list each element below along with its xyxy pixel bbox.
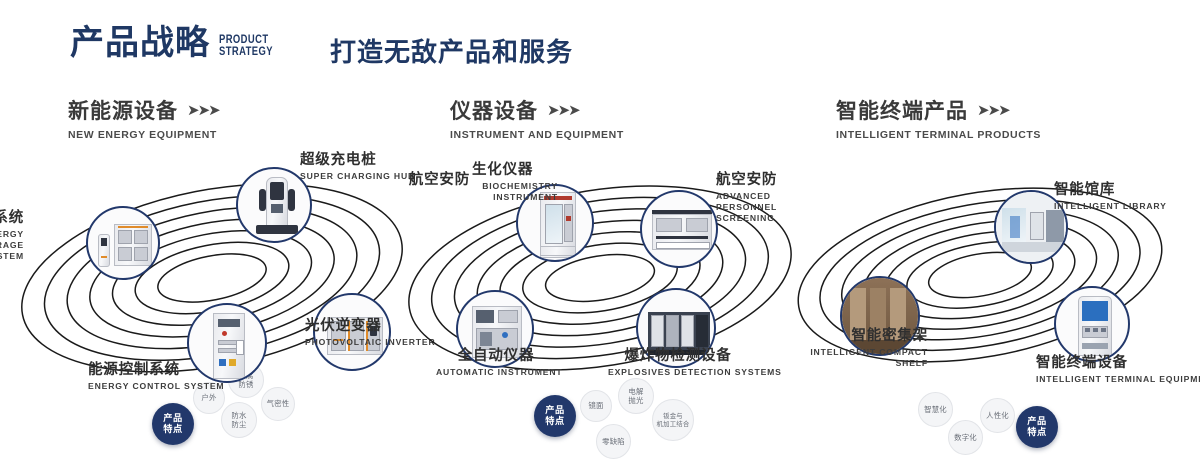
section-title-en: INTELLIGENT TERMINAL PRODUCTS [836, 129, 1041, 141]
label-aviation-security-left: 航空安防 [390, 172, 470, 189]
keyword-line1: 气密性 [267, 399, 290, 408]
label-intelligent-compact-shelf: 智能密集架 INTELLIGENT COMPACT SHELF [800, 328, 928, 369]
label-energy-storage-system: 储能系统 ENERGY STORAGE SYSTEM [0, 210, 24, 262]
label-en: EXPLOSIVES DETECTION SYSTEMS [608, 367, 748, 378]
label-cn: 生化仪器 [472, 162, 558, 179]
section-title-en: NEW ENERGY EQUIPMENT [68, 129, 219, 141]
cluster-instrument: 产品 特点 镜面 电解 抛光 钣金与 机加工结合 零缺陷 [400, 150, 820, 400]
core-bubble-line1: 产品 [545, 405, 565, 417]
node-advanced-personnel-screening[interactable] [640, 190, 718, 268]
core-bubble-line1: 产品 [163, 413, 183, 425]
page-title-cn: 产品战略 [70, 26, 210, 60]
page-title-en-line2: STRATEGY [219, 46, 273, 58]
keyword-line2: 防尘 [231, 420, 246, 429]
label-cn: 能源控制系统 [88, 362, 224, 379]
keyword-line1: 人性化 [986, 411, 1009, 420]
core-bubble-line1: 产品 [1027, 416, 1047, 428]
node-energy-storage-system[interactable] [86, 206, 160, 280]
terminal-kiosk-icon [1056, 288, 1128, 360]
label-cn: 航空安防 [390, 172, 470, 189]
cluster-new-energy: 产品 特点 户外 防腐 防锈 防水 防尘 气密性 [0, 150, 420, 400]
label-cn: 超级充电桩 [300, 152, 415, 169]
keyword-line1: 户外 [201, 393, 216, 402]
label-cn: 智能馆库 [1054, 182, 1167, 199]
keyword-line1: 数字化 [954, 433, 977, 442]
node-intelligent-terminal-equipment[interactable] [1054, 286, 1130, 362]
keyword-line2: 防锈 [238, 380, 253, 389]
label-biochemistry-instrument: 生化仪器 BIOCHEMISTRY INSTRUMENT [472, 162, 558, 203]
section-title-new-energy: 新能源设备 ➤➤➤ NEW ENERGY EQUIPMENT [68, 95, 219, 141]
label-en: BIOCHEMISTRY INSTRUMENT [472, 181, 558, 203]
keyword-line1: 零缺陷 [602, 437, 625, 446]
label-en: ENERGY STORAGE SYSTEM [0, 229, 24, 263]
label-explosives-detection-systems: 爆炸物检测设备 EXPLOSIVES DETECTION SYSTEMS [608, 348, 748, 378]
keyword-line1: 电解 [628, 387, 643, 396]
label-en: ENERGY CONTROL SYSTEM [88, 381, 224, 392]
section-title-instrument: 仪器设备 ➤➤➤ INSTRUMENT AND EQUIPMENT [450, 95, 624, 141]
keyword-bubble-humanized[interactable]: 人性化 [980, 398, 1015, 433]
keyword-bubble-waterproof[interactable]: 防水 防尘 [221, 402, 257, 438]
keyword-bubble-digital[interactable]: 数字化 [948, 420, 983, 455]
label-en: INTELLIGENT LIBRARY [1054, 201, 1167, 212]
core-bubble-line2: 特点 [163, 424, 183, 436]
core-bubble-product-features[interactable]: 产品 特点 [534, 395, 576, 437]
battery-cabinet-icon [88, 208, 158, 278]
label-en: AUTOMATIC INSTRUMENT [436, 367, 556, 378]
page-title-en: PRODUCT STRATEGY [219, 34, 273, 58]
page-title-en-line1: PRODUCT [219, 34, 273, 46]
chevrons-right-icon: ➤➤➤ [977, 101, 1009, 119]
keyword-line1: 钣金与 [663, 412, 683, 420]
label-intelligent-library: 智能馆库 INTELLIGENT LIBRARY [1054, 182, 1167, 212]
keyword-line1: 防水 [231, 411, 246, 420]
section-title-cn: 仪器设备 [450, 95, 538, 125]
section-title-cn: 新能源设备 [68, 95, 178, 125]
label-en: INTELLIGENT COMPACT SHELF [800, 347, 928, 369]
section-title-intelligent-terminal: 智能终端产品 ➤➤➤ INTELLIGENT TERMINAL PRODUCTS [836, 95, 1041, 141]
keyword-line2: 机加工结合 [657, 420, 690, 428]
label-cn: 储能系统 [0, 210, 24, 227]
label-cn: 智能终端设备 [1036, 355, 1200, 372]
label-cn: 全自动仪器 [436, 348, 556, 365]
label-energy-control-system: 能源控制系统 ENERGY CONTROL SYSTEM [88, 362, 224, 392]
page-subtitle: 打造无敌产品和服务 [330, 32, 573, 69]
core-bubble-line2: 特点 [1027, 427, 1047, 439]
section-title-en: INSTRUMENT AND EQUIPMENT [450, 129, 624, 141]
chevrons-right-icon: ➤➤➤ [187, 101, 219, 119]
page-title: 产品战略 PRODUCT STRATEGY [70, 26, 285, 60]
keyword-line2: 抛光 [628, 396, 643, 405]
keyword-bubble-airtightness[interactable]: 气密性 [261, 387, 295, 421]
core-bubble-product-features[interactable]: 产品 特点 [1016, 406, 1058, 448]
keyword-bubble-zero-defect[interactable]: 零缺陷 [596, 424, 631, 459]
personnel-screening-icon [642, 192, 716, 266]
section-title-cn: 智能终端产品 [836, 95, 968, 125]
keyword-line1: 智慧化 [924, 405, 947, 414]
keyword-line1: 镜面 [588, 401, 603, 410]
cluster-intelligent-terminal: 产品 特点 智慧化 数字化 人性化 [790, 150, 1200, 400]
keyword-bubble-mirror-finish[interactable]: 镜面 [580, 390, 612, 422]
keyword-bubble-sheetmetal-machining[interactable]: 钣金与 机加工结合 [652, 399, 694, 441]
label-automatic-instrument: 全自动仪器 AUTOMATIC INSTRUMENT [436, 348, 556, 378]
label-en: INTELLIGENT TERMINAL EQUIPMENT [1036, 374, 1200, 385]
label-cn: 智能密集架 [800, 328, 928, 345]
chevrons-right-icon: ➤➤➤ [547, 101, 579, 119]
core-bubble-product-features[interactable]: 产品 特点 [152, 403, 194, 445]
keyword-bubble-electropolishing[interactable]: 电解 抛光 [618, 378, 654, 414]
label-cn: 爆炸物检测设备 [608, 348, 748, 365]
label-intelligent-terminal-equipment: 智能终端设备 INTELLIGENT TERMINAL EQUIPMENT [1036, 355, 1200, 385]
